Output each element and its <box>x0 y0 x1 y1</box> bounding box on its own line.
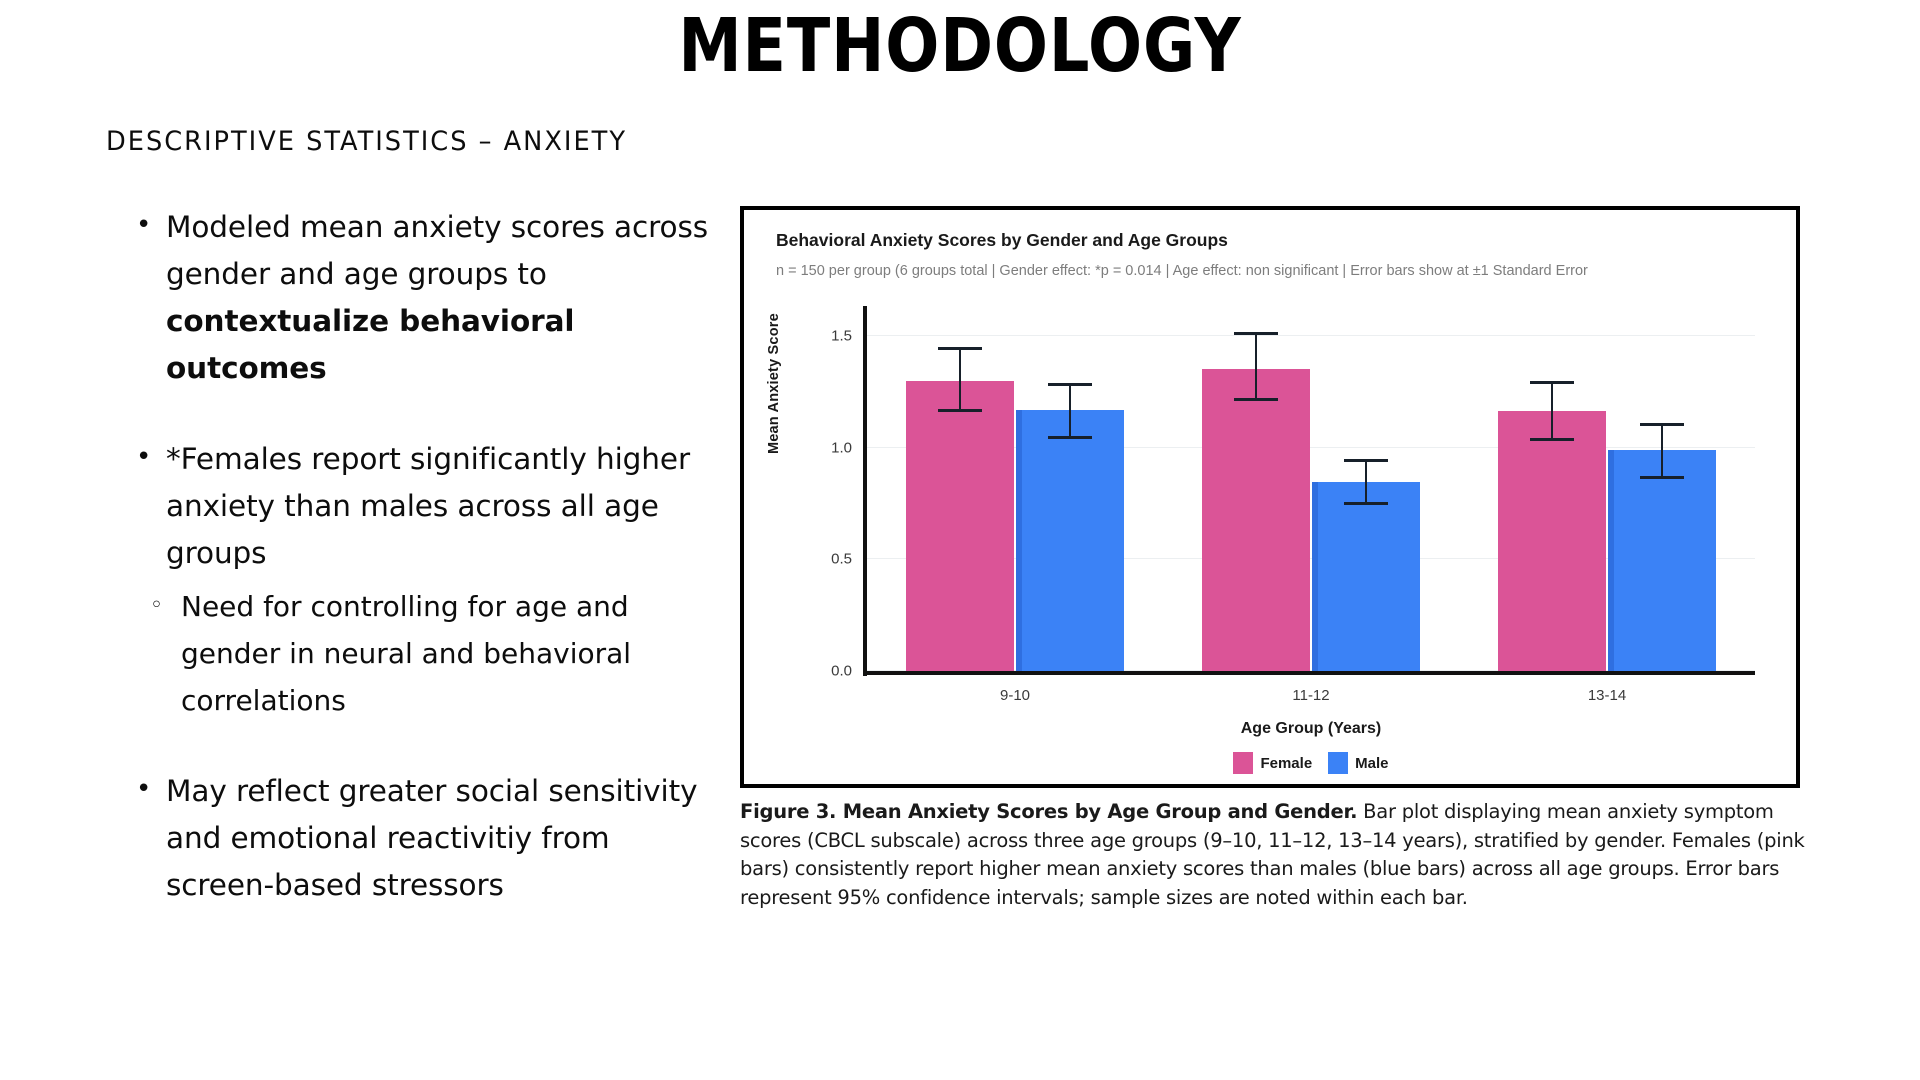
sub-bullet-list: Need for controlling for age and gender … <box>128 583 710 724</box>
bullet-text: May reflect greater social sensitivity a… <box>166 774 697 902</box>
error-bar-male-13-14 <box>1608 423 1716 479</box>
chart-legend: FemaleMale <box>867 752 1755 774</box>
y-axis-title: Mean Anxiety Score <box>766 313 782 454</box>
x-tick-label: 9-10 <box>1000 687 1030 704</box>
bullet-text-bold: contextualize behavioral outcomes <box>166 304 574 385</box>
bar-male-11-12 <box>1312 482 1420 671</box>
legend-swatch-icon <box>1233 752 1253 774</box>
list-item: Modeled mean anxiety scores across gende… <box>128 204 710 392</box>
figure-panel: Behavioral Anxiety Scores by Gender and … <box>740 206 1800 788</box>
bar-female-11-12 <box>1202 369 1310 671</box>
y-tick-label: 1.5 <box>806 328 852 345</box>
list-item: *Females report significantly higher anx… <box>128 436 710 577</box>
y-tick-label: 0.5 <box>806 551 852 568</box>
chart-title: Behavioral Anxiety Scores by Gender and … <box>776 230 1228 251</box>
bar-female-13-14 <box>1498 411 1606 671</box>
y-tick-label: 0.0 <box>806 663 852 680</box>
legend-item-female[interactable]: Female <box>1233 752 1312 774</box>
error-bar-male-11-12 <box>1312 459 1420 505</box>
x-axis-title: Age Group (Years) <box>867 720 1755 738</box>
legend-swatch-icon <box>1328 752 1348 774</box>
x-tick-label: 13-14 <box>1588 687 1626 704</box>
gridline <box>867 335 1755 336</box>
bullet-text: Need for controlling for age and gender … <box>181 590 631 717</box>
error-bar-female-13-14 <box>1498 381 1606 441</box>
list-item: May reflect greater social sensitivity a… <box>128 768 710 909</box>
x-axis-line <box>863 671 1755 675</box>
legend-label: Female <box>1260 755 1312 772</box>
bar-male-13-14 <box>1608 450 1716 671</box>
bar-female-9-10 <box>906 381 1014 671</box>
bullet-text: Modeled mean anxiety scores across gende… <box>166 210 708 291</box>
list-item: Need for controlling for age and gender … <box>128 583 710 724</box>
figure-caption: Figure 3. Mean Anxiety Scores by Age Gro… <box>740 798 1812 912</box>
error-bar-female-11-12 <box>1202 332 1310 401</box>
section-subtitle: DESCRIPTIVE STATISTICS – ANXIETY <box>106 126 627 157</box>
caption-lead: Figure 3. Mean Anxiety Scores by Age Gro… <box>740 800 1357 823</box>
chart-subtitle: n = 150 per group (6 groups total | Gend… <box>776 263 1588 279</box>
plot-wrapper: Mean Anxiety Score 0.00.51.01.5 9-1011-1… <box>744 302 1796 792</box>
y-tick-label: 1.0 <box>806 439 852 456</box>
bullet-text: *Females report significantly higher anx… <box>166 442 690 570</box>
x-tick-label: 11-12 <box>1292 687 1329 704</box>
error-bar-female-9-10 <box>906 347 1014 412</box>
plot-area <box>867 314 1755 671</box>
page-title: METHODOLOGY <box>134 8 1785 86</box>
bar-male-9-10 <box>1016 410 1124 671</box>
error-bar-male-9-10 <box>1016 383 1124 439</box>
bullet-list: Modeled mean anxiety scores across gende… <box>128 204 710 953</box>
legend-label: Male <box>1355 755 1388 772</box>
legend-item-male[interactable]: Male <box>1328 752 1388 774</box>
